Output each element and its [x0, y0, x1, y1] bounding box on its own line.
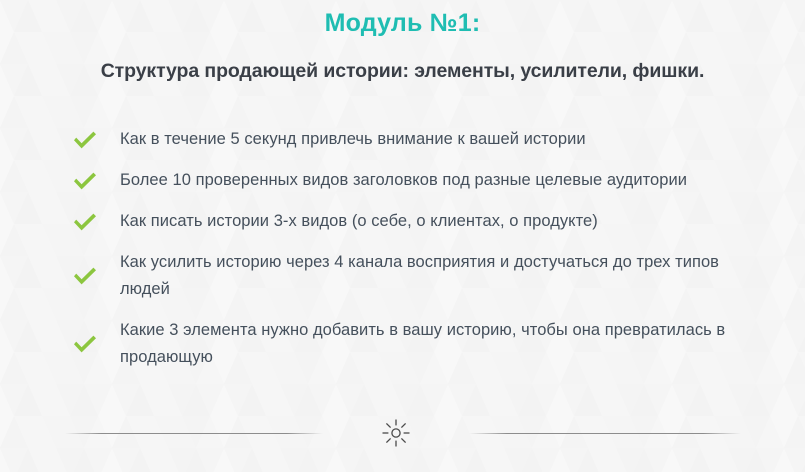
list-item: Как в течение 5 секунд привлечь внимание…: [72, 126, 762, 153]
list-item-label: Какие 3 элемента нужно добавить в вашу и…: [120, 317, 745, 371]
list-item: Как писать истории 3-х видов (о себе, о …: [72, 208, 762, 235]
list-item: Какие 3 элемента нужно добавить в вашу и…: [72, 317, 762, 371]
check-icon: [72, 211, 98, 233]
list-item-label: Более 10 проверенных видов заголовков по…: [120, 167, 687, 194]
footer-divider: [0, 418, 805, 448]
check-icon: [72, 265, 98, 287]
list-item-label: Как писать истории 3-х видов (о себе, о …: [120, 208, 598, 235]
list-item-label: Как в течение 5 секунд привлечь внимание…: [120, 126, 586, 153]
benefit-list: Как в течение 5 секунд привлечь внимание…: [72, 126, 762, 385]
divider-line-left: [65, 433, 323, 434]
check-icon: [72, 170, 98, 192]
check-icon: [72, 129, 98, 151]
list-item: Как усилить историю через 4 канала воспр…: [72, 249, 762, 303]
page-title: Модуль №1:: [0, 8, 805, 38]
list-item: Более 10 проверенных видов заголовков по…: [72, 167, 762, 194]
list-item-label: Как усилить историю через 4 канала воспр…: [120, 249, 745, 303]
divider-line-right: [469, 433, 741, 434]
check-icon: [72, 333, 98, 355]
sun-icon: [381, 418, 411, 448]
slide-root: Модуль №1: Структура продающей истории: …: [0, 0, 805, 472]
page-subtitle: Структура продающей истории: элементы, у…: [0, 58, 805, 84]
